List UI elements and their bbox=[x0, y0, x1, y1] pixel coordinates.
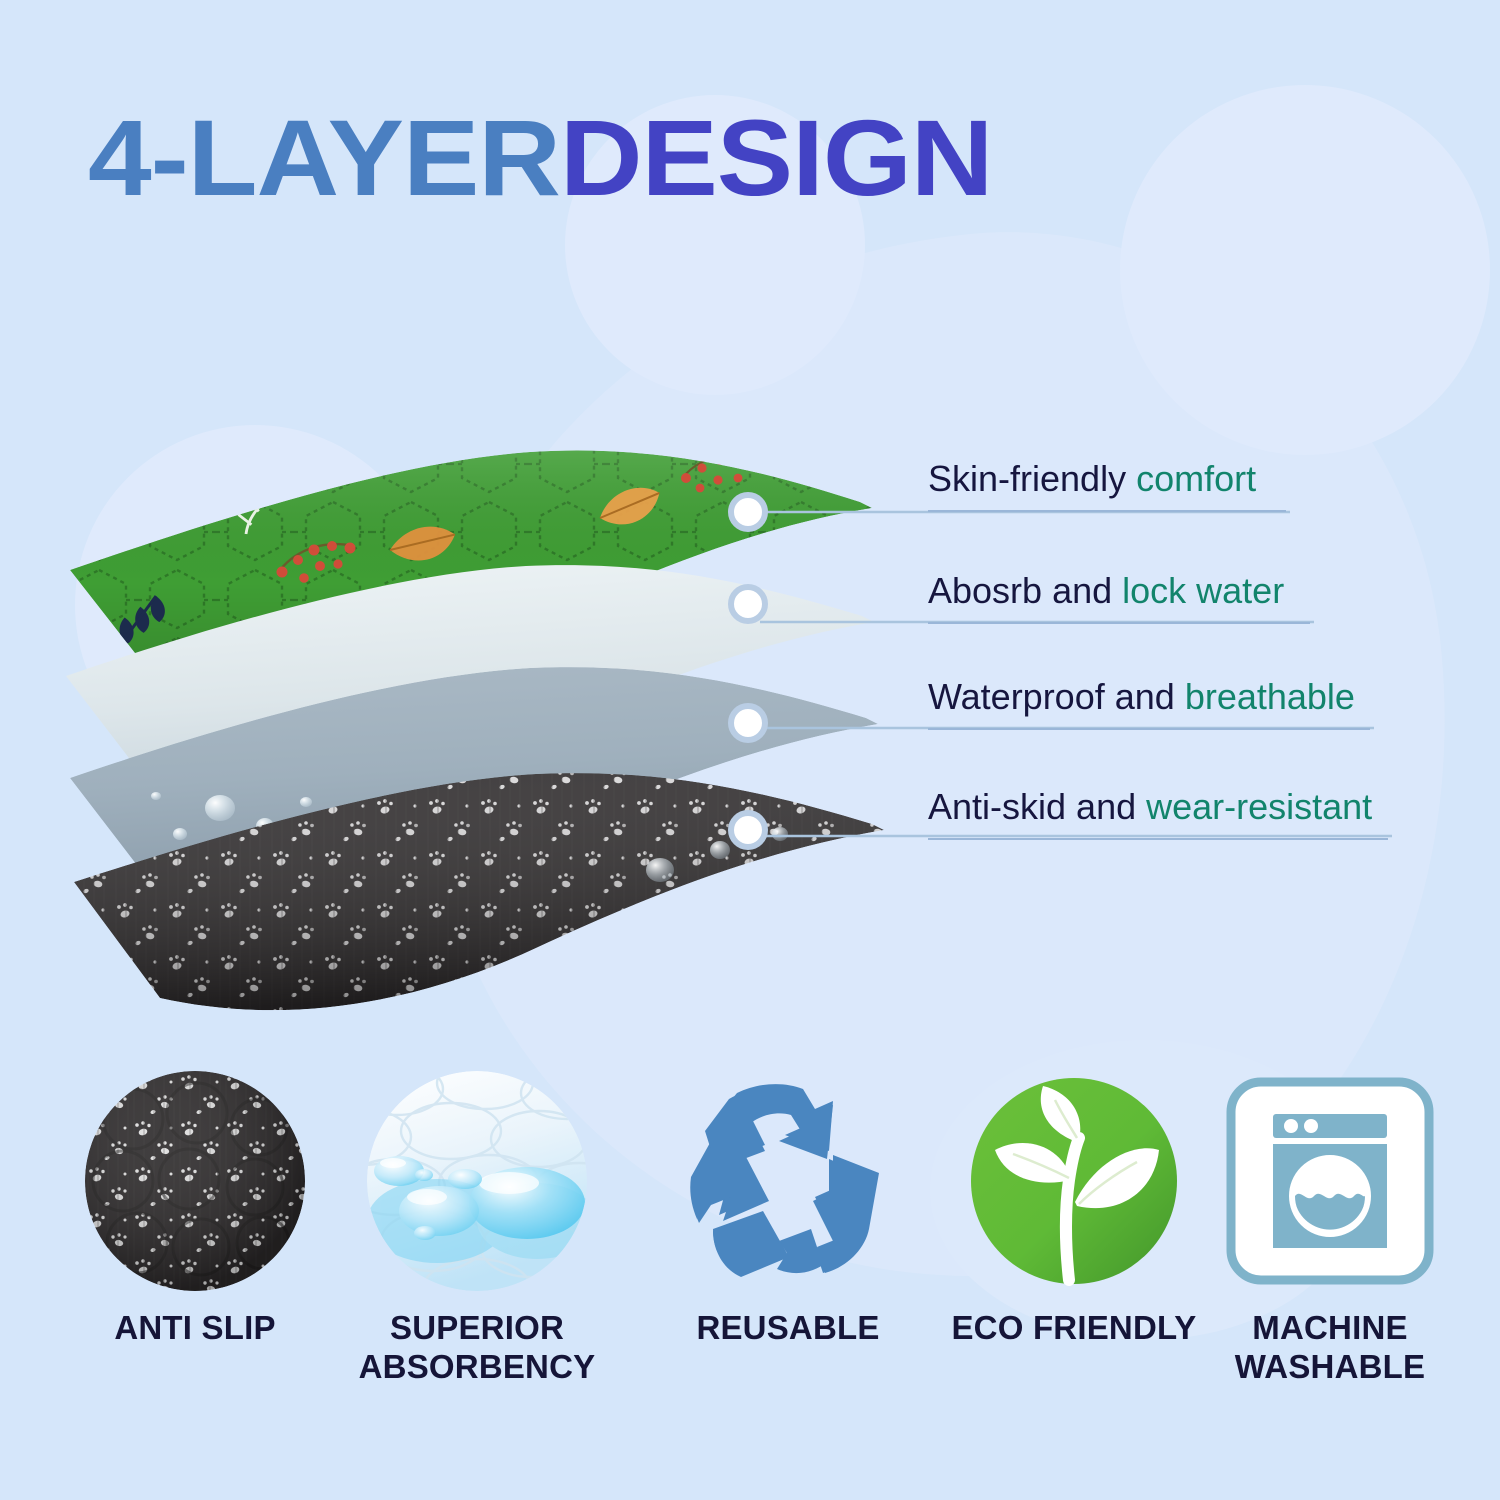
anti-slip-swatch-icon bbox=[85, 1071, 305, 1291]
feature-4-caption: ECO FRIENDLY bbox=[934, 1309, 1214, 1348]
washing-machine-icon bbox=[1225, 1076, 1435, 1286]
callout-2-rule bbox=[928, 622, 1310, 624]
background-circle-2 bbox=[1120, 85, 1490, 455]
feature-5-caption-line-1: MACHINE bbox=[1190, 1309, 1470, 1348]
callout-antiskid-wear-resistant: Anti-skid and wear-resistant bbox=[928, 789, 1388, 840]
layer-stack-diagram bbox=[60, 430, 940, 1050]
page-title: 4-LAYERDESIGN bbox=[88, 104, 992, 212]
anti-slip-art bbox=[55, 1065, 335, 1297]
feature-eco-friendly: ECO FRIENDLY bbox=[934, 1065, 1214, 1348]
feature-benefits-row: ANTI SLIP bbox=[0, 1065, 1500, 1455]
feature-anti-slip: ANTI SLIP bbox=[55, 1065, 335, 1348]
infographic-root: 4-LAYERDESIGN bbox=[0, 0, 1500, 1500]
feature-3-caption: REUSABLE bbox=[648, 1309, 928, 1348]
feature-1-caption: ANTI SLIP bbox=[55, 1309, 335, 1348]
feature-4-caption-line-1: ECO FRIENDLY bbox=[934, 1309, 1214, 1348]
feature-2-caption: SUPERIOR ABSORBENCY bbox=[337, 1309, 617, 1387]
reusable-art bbox=[648, 1065, 928, 1297]
feature-1-caption-line-1: ANTI SLIP bbox=[55, 1309, 335, 1348]
title-part-one: 4-LAYER bbox=[88, 97, 560, 218]
water-droplet-swatch-icon bbox=[367, 1071, 587, 1291]
callout-3-lead: Waterproof and bbox=[928, 676, 1185, 717]
callout-3-accent: breathable bbox=[1185, 676, 1355, 717]
callout-4-lead: Anti-skid and bbox=[928, 786, 1146, 827]
feature-5-caption: MACHINE WASHABLE bbox=[1190, 1309, 1470, 1387]
feature-2-caption-line-1: SUPERIOR bbox=[337, 1309, 617, 1348]
callout-3-rule bbox=[928, 728, 1370, 730]
callout-1-rule bbox=[928, 510, 1286, 512]
callout-2-accent: lock water bbox=[1122, 570, 1284, 611]
callout-absorb-lock-water: Abosrb and lock water bbox=[928, 573, 1310, 624]
callout-skin-friendly: Skin-friendly comfort bbox=[928, 461, 1286, 512]
feature-5-caption-line-2: WASHABLE bbox=[1190, 1348, 1470, 1387]
feature-machine-washable: MACHINE WASHABLE bbox=[1190, 1065, 1470, 1387]
feature-2-caption-line-2: ABSORBENCY bbox=[337, 1348, 617, 1387]
eco-friendly-art bbox=[934, 1065, 1214, 1297]
feature-3-caption-line-1: REUSABLE bbox=[648, 1309, 928, 1348]
callout-waterproof-breathable: Waterproof and breathable bbox=[928, 679, 1370, 730]
feature-reusable: REUSABLE bbox=[648, 1065, 928, 1348]
absorbency-art bbox=[337, 1065, 617, 1297]
callout-4-accent: wear-resistant bbox=[1146, 786, 1372, 827]
title-part-two: DESIGN bbox=[560, 97, 993, 218]
callout-1-accent: comfort bbox=[1136, 458, 1256, 499]
leaf-sprout-icon bbox=[969, 1076, 1179, 1286]
machine-washable-art bbox=[1190, 1065, 1470, 1297]
callout-1-lead: Skin-friendly bbox=[928, 458, 1136, 499]
recycle-icon bbox=[683, 1081, 893, 1281]
feature-superior-absorbency: SUPERIOR ABSORBENCY bbox=[337, 1065, 617, 1387]
callout-2-lead: Abosrb and bbox=[928, 570, 1122, 611]
callout-4-rule bbox=[928, 838, 1388, 840]
